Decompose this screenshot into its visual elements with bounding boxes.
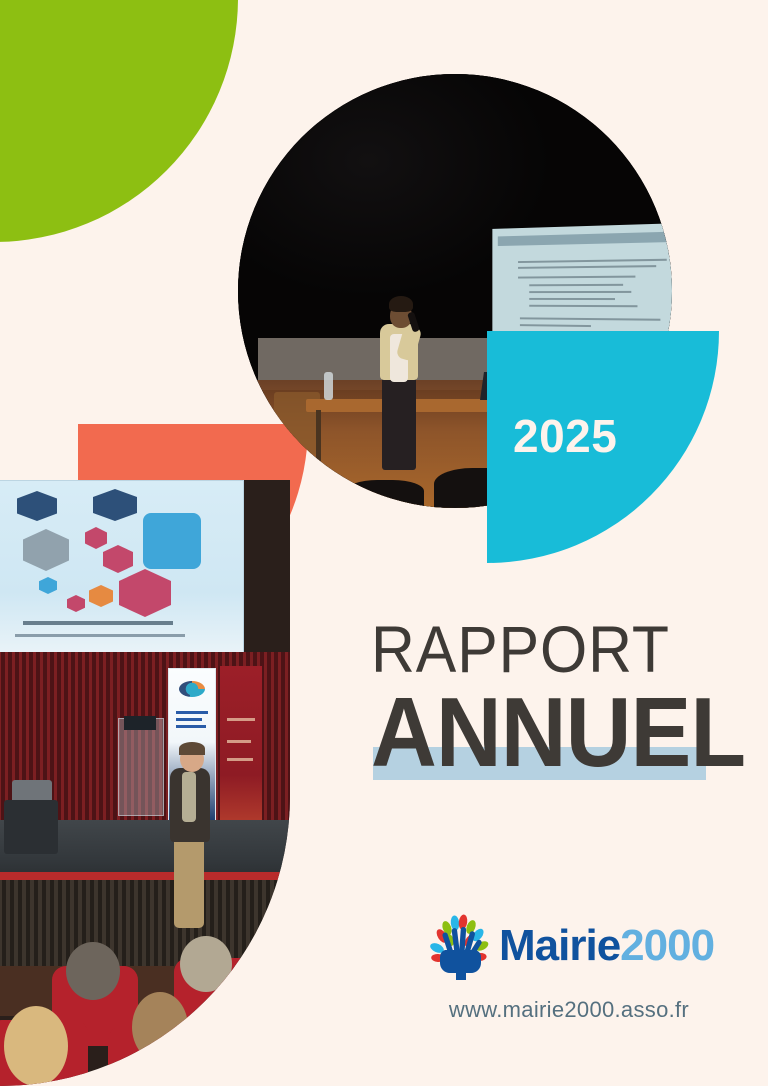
stage-equipment	[4, 800, 58, 854]
banner-logo-icon	[179, 681, 205, 697]
year-label: 2025	[513, 409, 617, 463]
audience-silhouette	[346, 480, 424, 508]
table-leg	[316, 410, 321, 468]
audience-person-head	[4, 1006, 68, 1086]
slide-hexagon	[39, 577, 57, 594]
slide-hexagon	[85, 527, 107, 549]
slide-hexagon	[17, 491, 57, 521]
slide-hexagon	[103, 545, 133, 573]
website-url[interactable]: www.mairie2000.asso.fr	[424, 997, 714, 1023]
photo-left-auditorium	[0, 480, 290, 1086]
water-bottle	[324, 372, 333, 400]
banner-text-line	[176, 718, 202, 721]
slide-hexagon	[89, 585, 113, 607]
slide-title-bar	[498, 231, 672, 246]
speaker-hair	[389, 296, 413, 312]
banner-text-line	[176, 725, 206, 728]
audience-person-head	[180, 936, 232, 992]
banner-text-line	[227, 758, 253, 761]
speaker-podium	[118, 718, 164, 816]
slide-text-line	[518, 265, 656, 269]
standing-speaker-legs	[174, 832, 204, 928]
brand-logo-block: Mairie2000 www.mairie2000.asso.fr	[424, 912, 714, 1023]
tree-hand-icon	[424, 912, 494, 980]
slide-hexagon	[143, 513, 201, 569]
slide-text-line	[529, 305, 637, 307]
slide-caption-line	[23, 621, 173, 625]
banner-text-line	[176, 711, 208, 714]
presentation-slide	[0, 480, 244, 654]
audience-silhouette	[252, 474, 322, 508]
logo-wordmark: Mairie2000	[499, 924, 714, 968]
slide-text-line	[518, 259, 667, 263]
standing-speaker-hair	[179, 742, 205, 755]
logo-row: Mairie2000	[424, 912, 714, 980]
slide-hexagon	[119, 569, 171, 617]
slide-text-line	[518, 276, 635, 279]
year-badge: 2025	[487, 331, 719, 563]
slide-caption-line	[15, 634, 185, 637]
title-line-annuel-row: ANNUEL	[371, 683, 711, 789]
title-line-annuel: ANNUEL	[371, 683, 687, 781]
slide-text-line	[520, 324, 591, 327]
roll-up-banner	[220, 666, 262, 822]
slide-text-line	[529, 284, 623, 286]
slide-text-line	[529, 298, 615, 300]
slide-hexagon	[23, 529, 69, 571]
slide-text-line	[520, 317, 661, 320]
banner-text-line	[227, 740, 251, 743]
standing-speaker-scarf	[182, 772, 196, 822]
title-line-rapport: RAPPORT	[371, 618, 684, 681]
podium-laptop	[124, 716, 156, 730]
page-title: RAPPORT ANNUEL	[371, 618, 711, 789]
logo-word-mairie: Mairie	[499, 921, 620, 970]
green-quarter-circle-decoration	[0, 0, 238, 242]
report-cover-page: 2025	[0, 0, 768, 1086]
slide-hexagon	[67, 595, 85, 612]
banner-text-line	[227, 718, 255, 721]
logo-word-2000: 2000	[620, 921, 714, 970]
audience-person-head	[66, 942, 120, 1000]
slide-text-line	[529, 291, 631, 293]
audience-person-head	[132, 992, 188, 1062]
slide-hexagon	[93, 489, 137, 521]
